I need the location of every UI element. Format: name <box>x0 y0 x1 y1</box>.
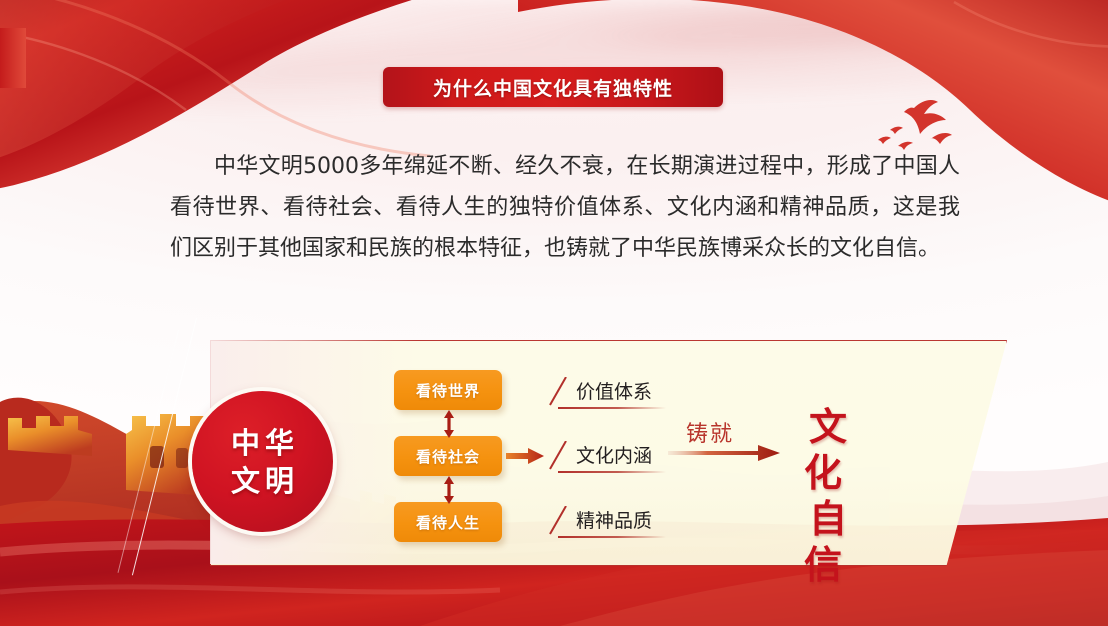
page-title-banner: 为什么中国文化具有独特性 <box>383 67 723 107</box>
outcome-spiritual-quality: 精神品质 <box>548 506 668 542</box>
perspective-box-label: 看待人生 <box>416 512 480 533</box>
gradient-arrow-right-icon <box>668 444 780 462</box>
outcome-underline <box>558 536 666 538</box>
outcome-label: 精神品质 <box>576 506 652 533</box>
outcome-underline <box>558 471 666 473</box>
core-circle-line2: 文明 <box>226 462 299 500</box>
outcome-label: 价值体系 <box>576 377 652 404</box>
double-arrow-vertical-icon <box>443 410 455 438</box>
outcome-value-system: 价值体系 <box>548 377 668 413</box>
core-circle-line1: 中华 <box>226 424 299 462</box>
outcome-cultural-connotation: 文化内涵 <box>548 441 668 477</box>
perspective-box-society[interactable]: 看待社会 <box>394 436 502 476</box>
slide-root: 为什么中国文化具有独特性 中华文明5000多年绵延不断、经久不衰，在长期演进过程… <box>0 0 1108 626</box>
result-line1: 文化 <box>778 404 878 496</box>
core-concept-circle: 中华 文明 <box>192 391 333 532</box>
perspective-box-life[interactable]: 看待人生 <box>394 502 502 542</box>
double-arrow-vertical-icon <box>443 476 455 504</box>
result-calligraphy: 文化 自信 <box>778 404 878 588</box>
perspective-box-world[interactable]: 看待世界 <box>394 370 502 410</box>
slash-accent-icon <box>548 506 568 536</box>
perspective-box-label: 看待社会 <box>416 446 480 467</box>
result-line2: 自信 <box>778 496 878 588</box>
slash-accent-icon <box>548 441 568 471</box>
diagonal-guide-line <box>132 318 197 575</box>
page-title: 为什么中国文化具有独特性 <box>433 74 673 101</box>
body-paragraph: 中华文明5000多年绵延不断、经久不衰，在长期演进过程中，形成了中国人看待世界、… <box>170 146 960 269</box>
diagonal-guide-line <box>118 330 179 573</box>
perspective-box-label: 看待世界 <box>416 380 480 401</box>
outcome-label: 文化内涵 <box>576 441 652 468</box>
left-red-accent-bar <box>0 28 26 88</box>
arrow-right-icon <box>506 447 544 465</box>
outcome-underline <box>558 407 666 409</box>
slash-accent-icon <box>548 377 568 407</box>
